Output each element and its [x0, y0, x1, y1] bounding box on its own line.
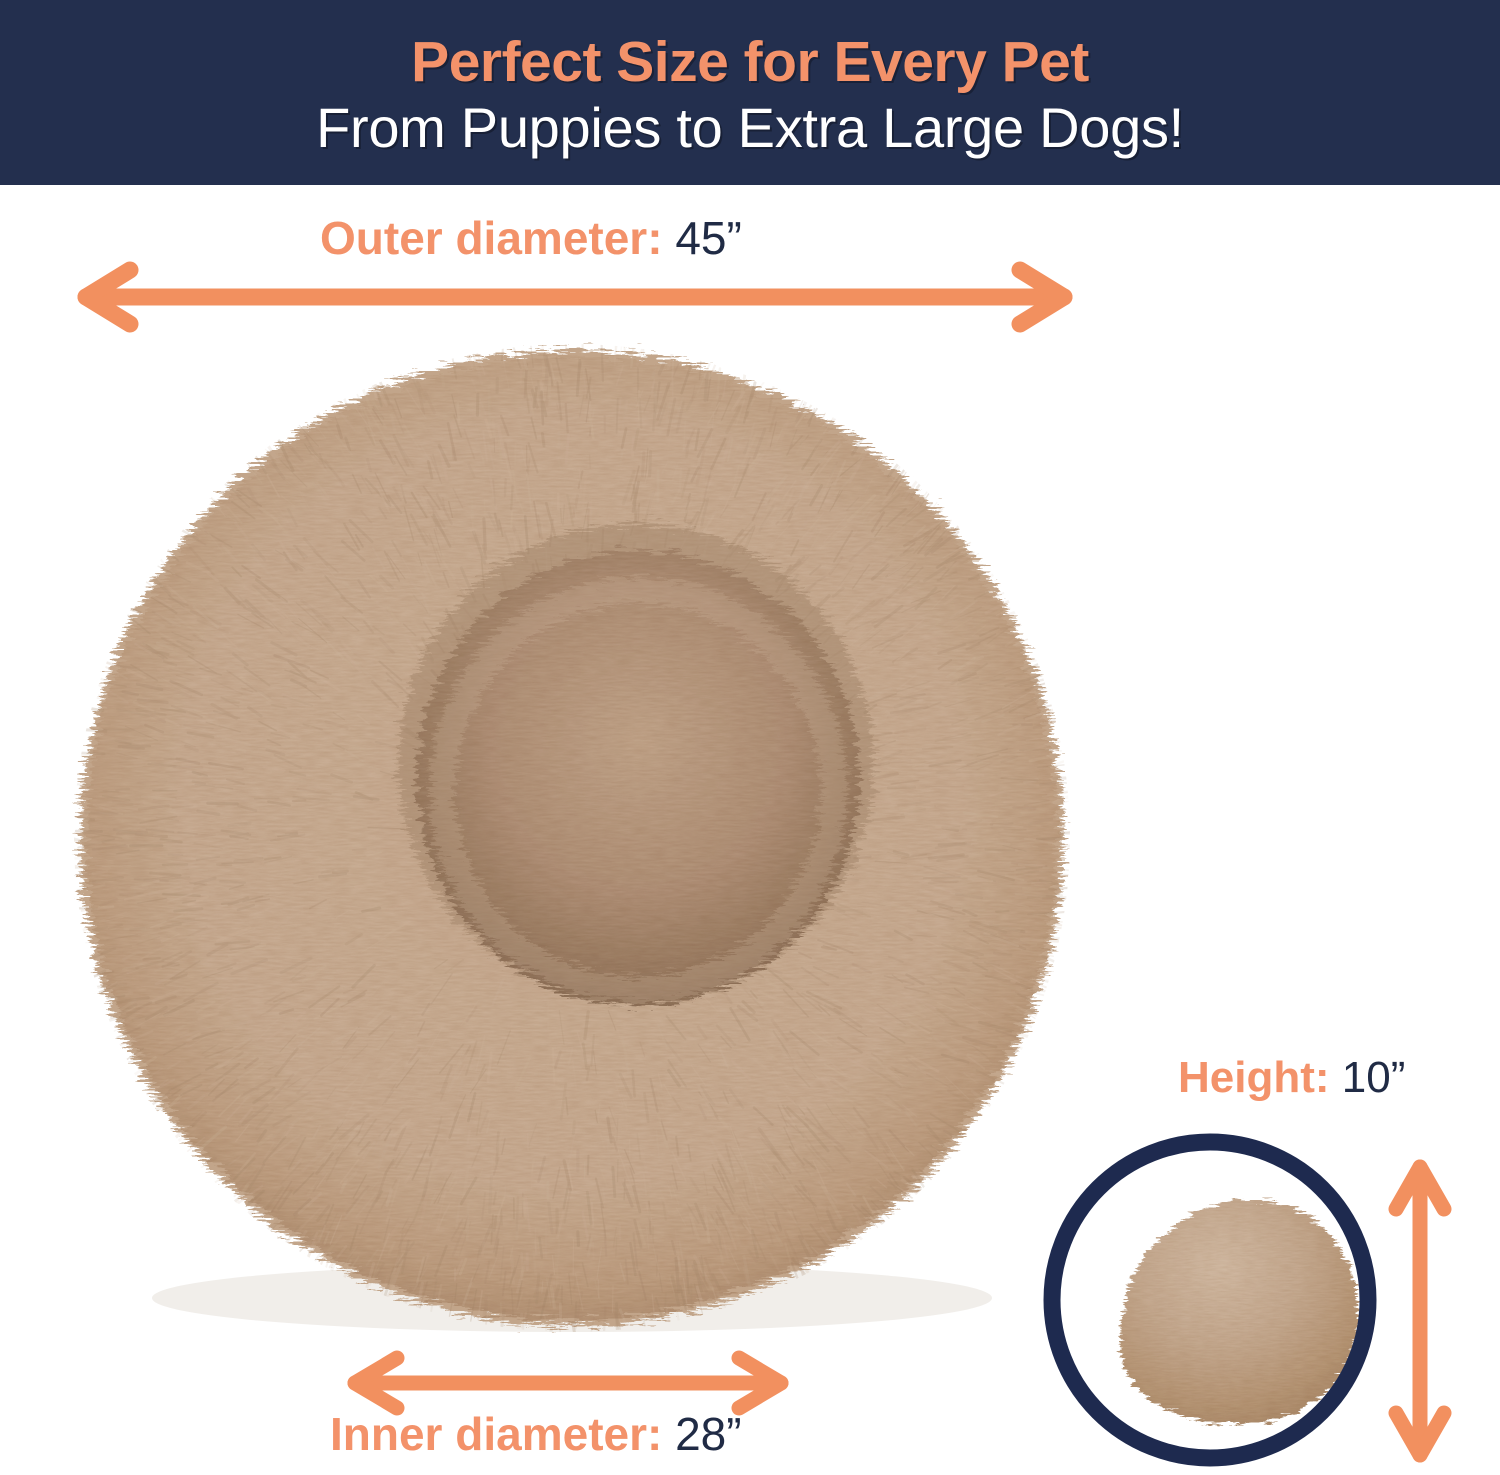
inner-diameter-name: Inner diameter: — [330, 1408, 662, 1460]
outer-diameter-value: 45” — [675, 212, 741, 264]
header-subheadline: From Puppies to Extra Large Dogs! — [316, 100, 1184, 156]
outer-diameter-label: Outer diameter: 45” — [0, 215, 1500, 261]
header-banner: Perfect Size for Every Pet From Puppies … — [0, 0, 1500, 185]
pet-bed-top-view-image — [66, 338, 1078, 1338]
inner-diameter-arrow-icon — [342, 1350, 794, 1416]
header-headline: Perfect Size for Every Pet — [411, 34, 1089, 91]
inner-diameter-value: 28” — [675, 1408, 741, 1460]
outer-diameter-name: Outer diameter: — [320, 212, 663, 264]
bed-side-profile — [1120, 1200, 1358, 1424]
height-value: 10” — [1342, 1053, 1406, 1102]
bed-inner-bowl — [398, 523, 874, 1006]
height-name: Height: — [1178, 1053, 1330, 1102]
pet-bed-side-view-inset — [1042, 1132, 1378, 1468]
height-arrow-icon — [1388, 1155, 1452, 1467]
inner-diameter-label: Inner diameter: 28” — [330, 1411, 742, 1457]
infographic-page: Perfect Size for Every Pet From Puppies … — [0, 0, 1500, 1475]
height-label: Height: 10” — [1178, 1056, 1405, 1100]
outer-diameter-arrow-icon — [72, 262, 1078, 332]
